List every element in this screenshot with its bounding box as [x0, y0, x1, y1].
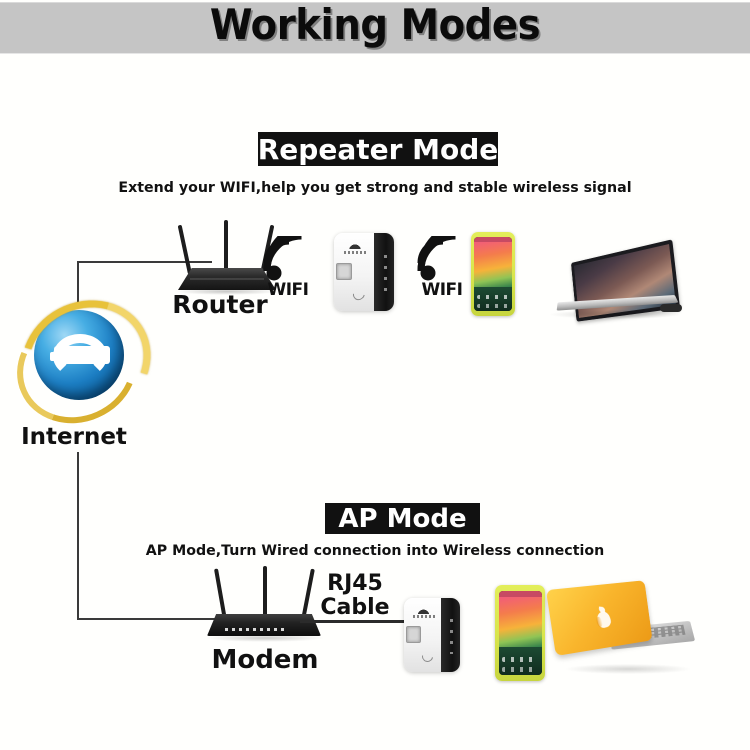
phone-app-row-2 — [477, 304, 509, 308]
wifi-icon — [416, 236, 468, 284]
modem-led-strip — [225, 628, 287, 631]
smartphone-icon-repeater — [471, 232, 515, 316]
macbook-icon — [556, 588, 696, 682]
wifi-label-1: WIFI — [262, 280, 314, 300]
working-modes-infographic: Working Modes Internet Repeater Mode Ext… — [0, 0, 750, 750]
router-antenna-left — [178, 225, 192, 275]
connector-line-internet-to-modem-vertical — [77, 452, 79, 620]
modem-label: Modem — [195, 645, 335, 675]
phone-screen — [499, 591, 542, 675]
rj45-line-2: Cable — [320, 595, 389, 620]
phone-app-row-1 — [502, 657, 538, 662]
phone-app-row-2 — [502, 667, 538, 672]
repeater-mode-banner: Repeater Mode — [258, 132, 498, 166]
modem-antenna-center — [263, 566, 267, 620]
phone-app-row-1 — [477, 295, 509, 299]
ap-mode-banner: AP Mode — [325, 503, 480, 534]
repeater-ethernet-port — [336, 263, 351, 281]
wifi-signal-icon-1: WIFI — [262, 236, 314, 310]
wifi-repeater-device-1 — [334, 233, 394, 311]
internet-label: Internet — [0, 424, 148, 450]
laptop-tablet-icon — [540, 238, 690, 326]
macbook-shadow — [566, 664, 690, 674]
rj45-cable-line — [300, 620, 408, 623]
phone-wallpaper — [474, 242, 512, 286]
ap-mode-subtitle: AP Mode,Turn Wired connection into Wirel… — [0, 543, 750, 559]
wifi-signal-icon-2: WIFI — [416, 236, 468, 310]
phone-wallpaper — [499, 597, 542, 648]
modem-antenna-left — [214, 568, 227, 620]
laptop-shadow — [550, 310, 680, 319]
smartphone-icon-ap — [495, 585, 545, 681]
rj45-line-1: RJ45 — [327, 571, 383, 596]
modem-shadow — [205, 634, 325, 642]
rj45-cable-label: RJ45Cable — [300, 572, 410, 620]
wifi-icon — [262, 236, 314, 284]
phone-screen — [474, 237, 512, 311]
internet-explorer-icon — [20, 300, 138, 418]
connector-line-internet-to-modem-horizontal — [77, 618, 222, 620]
repeater-led-indicators — [450, 619, 453, 655]
repeater-brand-text — [413, 615, 435, 618]
repeater-led-indicators — [384, 255, 387, 292]
wifi-label-2: WIFI — [416, 280, 468, 300]
page-title: Working Modes — [30, 0, 720, 52]
repeater-mode-subtitle: Extend your WIFI,help you get strong and… — [0, 180, 750, 196]
ie-orbit-ring-front — [0, 278, 172, 444]
wifi-repeater-device-2 — [404, 598, 460, 672]
router-antenna-center — [224, 220, 228, 274]
apple-logo-icon — [595, 610, 612, 629]
repeater-logo-icon — [345, 242, 365, 249]
repeater-ethernet-port — [406, 626, 420, 643]
repeater-brand-text — [344, 251, 368, 254]
repeater-logo-icon — [414, 607, 433, 614]
